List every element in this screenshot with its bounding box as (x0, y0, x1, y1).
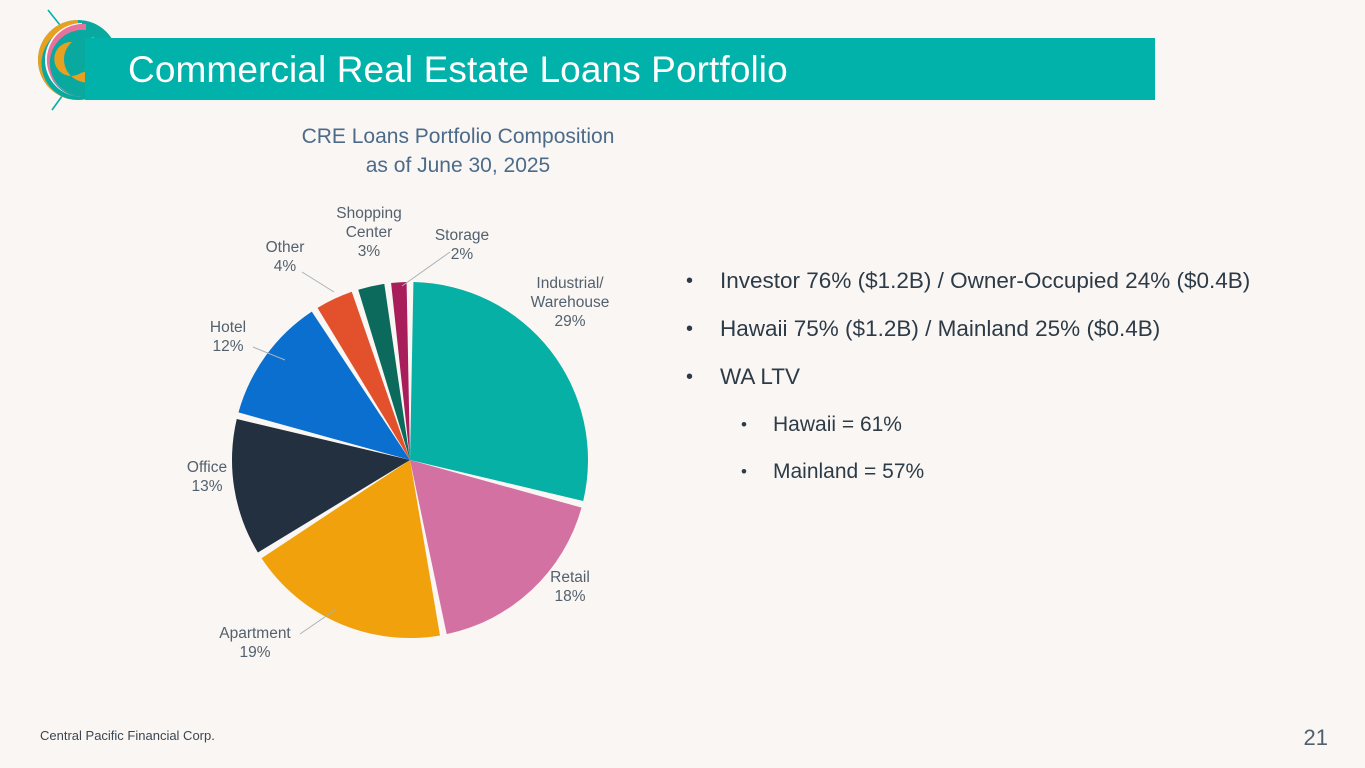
bullet-text: Mainland = 57% (773, 459, 1326, 484)
bullet-text: Hawaii = 61% (773, 412, 1326, 437)
pie-label-line: Office (187, 459, 227, 476)
bullet-item: •WA LTV (686, 364, 1326, 390)
pie-label-line: 19% (239, 644, 270, 661)
pie-label-line: 18% (554, 588, 585, 605)
chart-title-line: CRE Loans Portfolio Composition (238, 122, 678, 151)
pie-slice-group (232, 282, 588, 638)
bullet-item: •Hawaii = 61% (686, 412, 1326, 437)
pie-slice-label: Industrial/Warehouse29% (531, 275, 610, 330)
pie-label-line: 29% (554, 313, 585, 330)
pie-slice-label: Storage2% (435, 227, 489, 263)
bullet-text: WA LTV (720, 364, 1326, 390)
pie-label-line: 12% (212, 338, 243, 355)
footer-company-name: Central Pacific Financial Corp. (40, 728, 215, 743)
bullet-text: Hawaii 75% ($1.2B) / Mainland 25% ($0.4B… (720, 316, 1326, 342)
pie-label-line: Other (266, 239, 305, 256)
pie-label-line: Industrial/ (536, 275, 604, 292)
pie-label-line: Storage (435, 227, 489, 244)
pie-slice-label: Office13% (187, 459, 227, 495)
bullet-item: •Mainland = 57% (686, 459, 1326, 484)
bullet-marker-icon: • (741, 459, 773, 484)
bullet-text: Investor 76% ($1.2B) / Owner-Occupied 24… (720, 268, 1326, 294)
bullet-marker-icon: • (686, 364, 720, 390)
slide-canvas: Commercial Real Estate Loans Portfolio C… (0, 0, 1365, 768)
bullet-marker-icon: • (686, 316, 720, 342)
pie-label-line: Hotel (210, 319, 246, 336)
pie-label-line: 2% (451, 246, 474, 263)
pie-leader-line (302, 272, 334, 292)
pie-leader-line (402, 252, 450, 286)
pie-slice-label: Other4% (266, 239, 305, 275)
bullet-marker-icon: • (741, 412, 773, 437)
pie-label-line: 13% (191, 478, 222, 495)
bullet-item: •Hawaii 75% ($1.2B) / Mainland 25% ($0.4… (686, 316, 1326, 342)
pie-label-line: Shopping (336, 205, 402, 222)
bullet-list: •Investor 76% ($1.2B) / Owner-Occupied 2… (686, 268, 1326, 506)
pie-label-line: Apartment (219, 625, 291, 642)
pie-label-line: 3% (358, 243, 381, 260)
page-title: Commercial Real Estate Loans Portfolio (128, 47, 1138, 93)
pie-slice-label: ShoppingCenter3% (336, 205, 402, 260)
page-number: 21 (1304, 725, 1328, 751)
chart-subtitle: CRE Loans Portfolio Composition as of Ju… (238, 122, 678, 180)
bullet-marker-icon: • (686, 268, 720, 294)
pie-label-line: 4% (274, 258, 297, 275)
pie-leader-line (300, 610, 335, 634)
pie-slice-label: Hotel12% (210, 319, 246, 355)
pie-label-line: Center (346, 224, 393, 241)
pie-label-line: Warehouse (531, 294, 610, 311)
pie-slice-label: Apartment19% (219, 625, 291, 661)
bullet-item: •Investor 76% ($1.2B) / Owner-Occupied 2… (686, 268, 1326, 294)
pie-label-line: Retail (550, 569, 590, 586)
pie-slice-label: Retail18% (550, 569, 590, 605)
pie-chart: Industrial/Warehouse29%Retail18%Apartmen… (150, 200, 670, 700)
chart-asof-line: as of June 30, 2025 (238, 151, 678, 180)
